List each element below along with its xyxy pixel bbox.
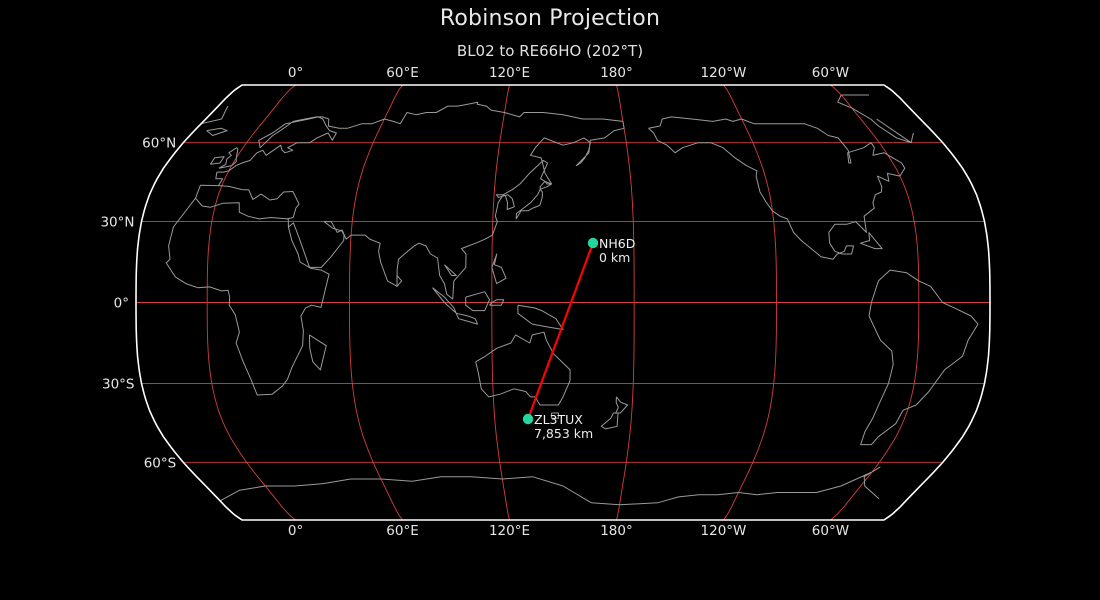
coastline-path [601, 413, 618, 429]
latitude-label-left: 30°N [100, 215, 134, 231]
station-distance-label: 7,853 km [534, 426, 593, 441]
coastline-path [466, 292, 490, 311]
longitude-label-bottom: 60°W [812, 523, 849, 539]
longitude-label-top: 120°E [489, 65, 530, 81]
coastline-path [219, 148, 238, 169]
longitude-label-bottom: 120°W [701, 523, 747, 539]
coastline-path [220, 477, 619, 505]
latitude-labels-left: 60°N30°N0°30°S60°S [100, 136, 176, 472]
great-circle-path [528, 243, 593, 419]
longitude-label-top: 120°W [701, 65, 747, 81]
coastline-path [911, 133, 913, 143]
latitude-label-left: 60°S [144, 455, 177, 471]
station-name-label: ZL3TUX [534, 412, 583, 427]
station-distance-label: 0 km [599, 250, 630, 265]
map-graticule-layer [136, 85, 990, 520]
latitude-label-left: 0° [114, 296, 129, 312]
station-name-label: NH6D [599, 236, 635, 251]
longitude-label-top: 60°W [812, 65, 849, 81]
robinson-map-canvas: NH6D0 kmZL3TUX7,853 km 60°E120°E180°120°… [0, 0, 1100, 600]
latitude-label-left: 30°S [102, 376, 135, 392]
coastline-path [433, 288, 478, 324]
longitude-label-bottom: 60°E [386, 523, 418, 539]
coastline-path [649, 117, 905, 259]
coastline-path [207, 128, 227, 135]
latitude-label-left: 60°N [142, 136, 176, 152]
coastline-path [620, 467, 881, 505]
longitude-label-bottom: 180° [600, 523, 633, 539]
map-figure: Robinson Projection BL02 to RE66HO (202°… [0, 0, 1100, 600]
station-marker[interactable] [523, 414, 533, 424]
coastline-path [861, 270, 978, 445]
longitude-label-top: 0° [288, 65, 303, 81]
coastline-path [616, 397, 628, 413]
coastline-path [516, 189, 542, 219]
longitude-labels-top: 60°E120°E180°120°W60°W0° [288, 65, 849, 81]
longitude-label-top: 180° [600, 65, 633, 81]
path-line [528, 243, 593, 419]
coastline-path [201, 106, 228, 124]
coastline-path [445, 265, 457, 276]
coastline-path [210, 157, 224, 165]
coastline-path [196, 185, 300, 219]
station-markers-layer: NH6D0 kmZL3TUX7,853 km [523, 236, 636, 441]
coastline-path [309, 335, 326, 370]
station-marker[interactable] [588, 238, 598, 248]
coastline-path [397, 276, 402, 287]
longitude-label-top: 60°E [386, 65, 418, 81]
coastline-path [216, 102, 624, 299]
coastline-path [166, 198, 329, 395]
longitude-label-bottom: 0° [288, 523, 303, 539]
coastline-path [860, 232, 882, 248]
coastline-path [492, 254, 506, 284]
longitude-labels-bottom: 60°E120°E180°120°W60°W0° [288, 523, 849, 539]
coastline-path [518, 305, 563, 329]
longitude-label-bottom: 120°E [489, 523, 530, 539]
